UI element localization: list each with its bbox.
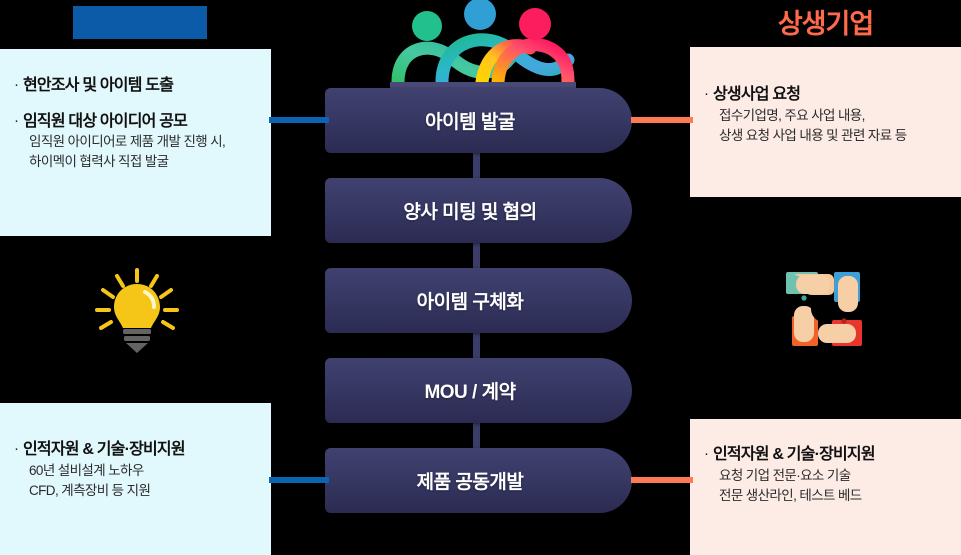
bullet-dot: · [704,444,709,464]
bullet-subtext-line: 접수기업명, 주요 사업 내용, [719,106,947,126]
left-bottom-panel: · 인적자원 & 기술·장비지원 60년 설비설계 노하우 CFD, 계측장비 … [0,403,271,555]
bullet-subtext-line: 임직원 아이디어로 제품 개발 진행 시, [29,132,257,152]
flow-step-label: 제품 공동개발 [325,448,615,513]
lightbulb-icon [95,268,179,354]
link-line-right-top [631,117,693,123]
bullet-subtext: 요청 기업 전문·요소 기술 전문 생산라인, 테스트 베드 [719,466,947,507]
bullet-item: · 인적자원 & 기술·장비지원 [704,444,947,466]
link-line-left-bottom [269,477,329,483]
right-bottom-panel: · 인적자원 & 기술·장비지원 요청 기업 전문·요소 기술 전문 생산라인,… [690,419,961,555]
bullet-dot: · [704,84,709,104]
bullet-heading: 인적자원 & 기술·장비지원 [713,444,875,466]
bullet-subtext-line: CFD, 계측장비 등 지원 [29,481,257,501]
flow-step-label: MOU / 계약 [325,358,615,423]
flow-step-mou-contract[interactable]: MOU / 계약 [325,358,632,423]
bullet-subtext-line: 요청 기업 전문·요소 기술 [719,466,947,486]
flow-connector [473,332,480,359]
flow-step-label: 양사 미팅 및 협의 [325,178,615,243]
bullet-item: · 인적자원 & 기술·장비지원 [14,439,257,461]
bullet-heading: 임직원 대상 아이디어 공모 [23,111,187,133]
flow-connector [473,422,480,449]
bullet-heading: 인적자원 & 기술·장비지원 [23,439,185,461]
process-flow: 아이템 발굴 양사 미팅 및 협의 아이템 구체화 MOU / 계약 제품 공동… [325,0,635,555]
bullet-subtext-line: 상생 요청 사업 내용 및 관련 자료 등 [719,126,947,146]
bullet-item: · 상생사업 요청 [704,84,947,106]
flow-step-label: 아이템 구체화 [325,268,615,333]
link-line-right-bottom [631,477,693,483]
left-header-badge [73,6,207,39]
flow-connector [473,152,480,179]
bullet-dot: · [14,439,19,459]
flow-connector [473,242,480,269]
link-line-left-top [269,117,329,123]
four-hands-teamwork-icon [782,268,866,352]
bullet-heading: 현안조사 및 아이템 도출 [23,75,173,97]
bullet-subtext-line: 하이멕이 협력사 직접 발굴 [29,152,257,172]
bullet-subtext: 60년 설비설계 노하우 CFD, 계측장비 등 지원 [29,461,257,502]
flow-step-item-discovery[interactable]: 아이템 발굴 [325,88,632,153]
flow-step-bilateral-meeting[interactable]: 양사 미팅 및 협의 [325,178,632,243]
flow-step-joint-development[interactable]: 제품 공동개발 [325,448,632,513]
bullet-heading: 상생사업 요청 [713,84,800,106]
bullet-item: · 임직원 대상 아이디어 공모 [14,111,257,133]
bullet-subtext-line: 전문 생산라인, 테스트 베드 [719,486,947,506]
bullet-dot: · [14,75,19,95]
left-top-panel: · 현안조사 및 아이템 도출 · 임직원 대상 아이디어 공모 임직원 아이디… [0,49,271,236]
right-top-panel: · 상생사업 요청 접수기업명, 주요 사업 내용, 상생 요청 사업 내용 및… [690,47,961,197]
bullet-subtext: 접수기업명, 주요 사업 내용, 상생 요청 사업 내용 및 관련 자료 등 [719,106,947,147]
flow-step-item-specification[interactable]: 아이템 구체화 [325,268,632,333]
bullet-dot: · [14,111,19,131]
flow-step-label: 아이템 발굴 [325,88,615,153]
right-header-title: 상생기업 [690,2,961,46]
bullet-subtext-line: 60년 설비설계 노하우 [29,461,257,481]
bullet-item: · 현안조사 및 아이템 도출 [14,75,257,97]
bullet-subtext: 임직원 아이디어로 제품 개발 진행 시, 하이멕이 협력사 직접 발굴 [29,132,257,173]
infographic-canvas: 상생기업 · 현안조사 및 아이템 도출 · 임직원 대상 아이디어 공모 임직… [0,0,961,555]
